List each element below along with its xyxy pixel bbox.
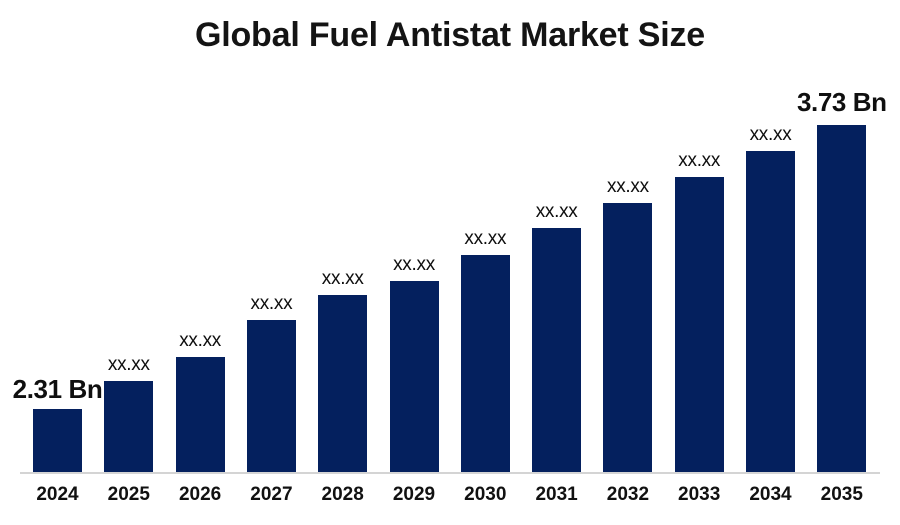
x-axis-label-2033: 2033 [664, 484, 735, 506]
bar-value-label-2031: xx.xx [536, 201, 578, 223]
x-axis-label-2030: 2030 [450, 484, 521, 506]
x-axis-labels: 2024202520262027202820292030203120322033… [0, 480, 900, 525]
bar-value-label-2034: xx.xx [750, 124, 792, 146]
bar-rect-2031[interactable] [532, 228, 581, 472]
x-axis-label-2025: 2025 [93, 484, 164, 506]
plot-area: 2.31 Bnxx.xxxx.xxxx.xxxx.xxxx.xxxx.xxxx.… [0, 0, 900, 480]
x-axis-label-2028: 2028 [307, 484, 378, 506]
bar-rect-2035[interactable] [817, 125, 866, 472]
bar-rect-2034[interactable] [746, 151, 795, 472]
x-axis-label-2026: 2026 [165, 484, 236, 506]
bar-2034[interactable]: xx.xx [746, 151, 795, 472]
chart-container: Global Fuel Antistat Market Size 2.31 Bn… [0, 0, 900, 525]
bar-value-label-2032: xx.xx [607, 176, 649, 198]
bar-rect-2026[interactable] [176, 357, 225, 472]
bar-value-label-2027: xx.xx [251, 293, 293, 315]
bar-2032[interactable]: xx.xx [603, 203, 652, 472]
bar-rect-2024[interactable] [33, 409, 82, 472]
x-axis-label-2031: 2031 [521, 484, 592, 506]
bar-value-label-2028: xx.xx [322, 268, 364, 290]
bar-rect-2028[interactable] [318, 295, 367, 472]
bar-rect-2030[interactable] [461, 255, 510, 472]
x-axis-label-2024: 2024 [22, 484, 93, 506]
x-axis-label-2034: 2034 [735, 484, 806, 506]
bar-2025[interactable]: xx.xx [104, 381, 153, 472]
bar-2031[interactable]: xx.xx [532, 228, 581, 472]
bar-2027[interactable]: xx.xx [247, 320, 296, 472]
x-axis-label-2032: 2032 [592, 484, 663, 506]
bar-rect-2029[interactable] [390, 281, 439, 472]
bar-2024[interactable]: 2.31 Bn [33, 409, 82, 472]
bar-value-label-2024: 2.31 Bn [13, 374, 103, 405]
x-axis-label-2027: 2027 [236, 484, 307, 506]
bar-2035[interactable]: 3.73 Bn [817, 125, 866, 472]
bar-2033[interactable]: xx.xx [675, 177, 724, 472]
bar-rect-2032[interactable] [603, 203, 652, 472]
bar-rect-2033[interactable] [675, 177, 724, 472]
x-axis-label-2029: 2029 [379, 484, 450, 506]
bar-value-label-2030: xx.xx [464, 228, 506, 250]
bar-2029[interactable]: xx.xx [390, 281, 439, 472]
bar-2028[interactable]: xx.xx [318, 295, 367, 472]
bar-2026[interactable]: xx.xx [176, 357, 225, 472]
bar-rect-2025[interactable] [104, 381, 153, 472]
x-axis-line [20, 472, 880, 474]
x-axis-label-2035: 2035 [806, 484, 877, 506]
bar-value-label-2025: xx.xx [108, 354, 150, 376]
bar-2030[interactable]: xx.xx [461, 255, 510, 472]
bar-value-label-2026: xx.xx [179, 330, 221, 352]
bar-value-label-2035: 3.73 Bn [797, 87, 887, 118]
bar-rect-2027[interactable] [247, 320, 296, 472]
bar-value-label-2033: xx.xx [678, 150, 720, 172]
bar-value-label-2029: xx.xx [393, 254, 435, 276]
